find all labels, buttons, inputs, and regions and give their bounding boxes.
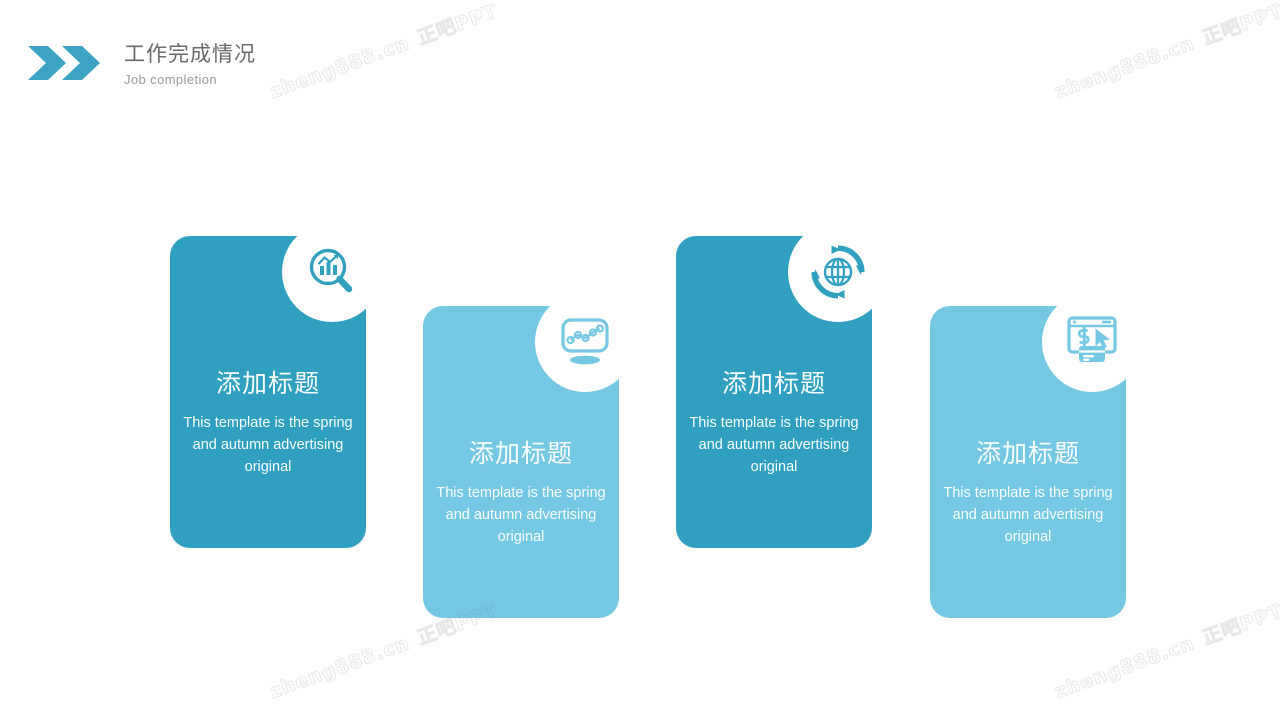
- chart-magnifier-icon: [304, 244, 360, 300]
- info-card[interactable]: 添加标题This template is the spring and autu…: [170, 236, 366, 548]
- info-card[interactable]: 添加标题This template is the spring and autu…: [676, 236, 872, 548]
- double-chevron-right-icon: [26, 44, 104, 82]
- slide-header: 工作完成情况 Job completion: [0, 0, 1280, 110]
- info-card[interactable]: 添加标题This template is the spring and autu…: [423, 306, 619, 618]
- header-title-block: 工作完成情况 Job completion: [124, 40, 256, 88]
- info-card[interactable]: 添加标题This template is the spring and autu…: [930, 306, 1126, 618]
- monitor-line-chart-icon: [557, 314, 613, 370]
- page-subtitle: Job completion: [124, 72, 256, 88]
- globe-refresh-icon: [810, 244, 866, 300]
- page-title: 工作完成情况: [124, 40, 256, 68]
- browser-payment-icon: [1064, 314, 1120, 370]
